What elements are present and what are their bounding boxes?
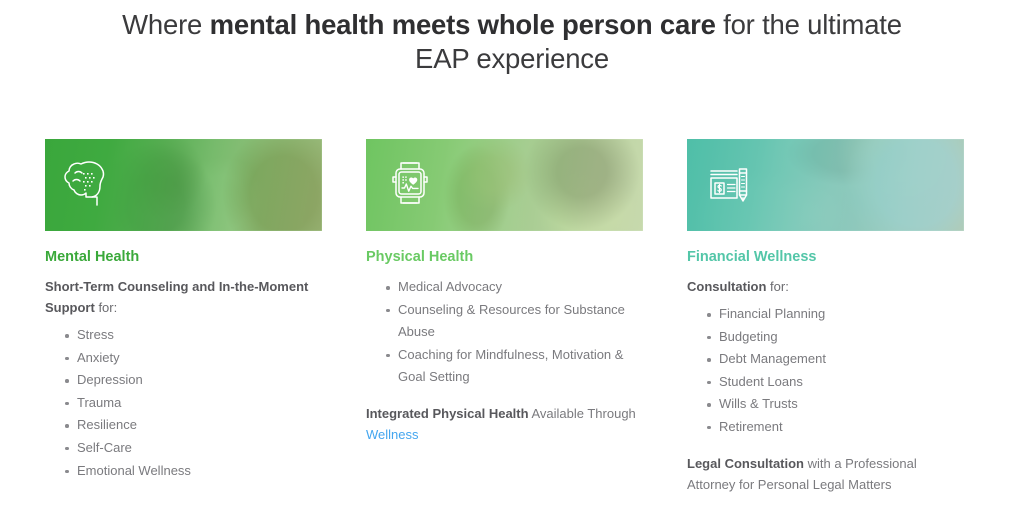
list-item: Debt Management (707, 348, 964, 371)
card-lead-bold: Short-Term Counseling and In-the-Moment … (45, 279, 308, 315)
list-item: Self-Care (65, 437, 322, 460)
page-title-bold: mental health meets whole person care (210, 9, 716, 40)
list-item: Trauma (65, 392, 322, 415)
card-lead-bold: Consultation (687, 279, 766, 294)
cheque-pen-icon (701, 153, 761, 213)
card-bullets-mental-health: Stress Anxiety Depression Trauma Resilie… (45, 324, 322, 482)
list-item: Stress (65, 324, 322, 347)
list-item: Resilience (65, 414, 322, 437)
card-bullets-financial-wellness: Financial Planning Budgeting Debt Manage… (687, 303, 964, 439)
card-banner-financial-wellness (687, 139, 964, 231)
head-brain-icon (59, 153, 119, 213)
card-mental-health: Mental Health Short-Term Counseling and … (45, 139, 322, 496)
page-root: Where mental health meets whole person c… (0, 0, 1024, 517)
list-item: Budgeting (707, 326, 964, 349)
card-title-financial-wellness: Financial Wellness (687, 247, 964, 267)
list-item: Medical Advocacy (386, 276, 643, 299)
list-item: Retirement (707, 416, 964, 439)
card-note-bold: Integrated Physical Health (366, 406, 529, 421)
page-title-part1: Where (122, 9, 209, 40)
card-lead-mental-health: Short-Term Counseling and In-the-Moment … (45, 276, 322, 318)
card-title-physical-health: Physical Health (366, 247, 643, 267)
card-bullets-physical-health: Medical Advocacy Counseling & Resources … (366, 276, 643, 389)
list-item: Depression (65, 369, 322, 392)
list-item: Emotional Wellness (65, 460, 322, 483)
page-title: Where mental health meets whole person c… (112, 8, 912, 76)
smartwatch-heart-icon (380, 153, 440, 213)
list-item: Financial Planning (707, 303, 964, 326)
cards-row: Mental Health Short-Term Counseling and … (45, 139, 965, 496)
list-item: Counseling & Resources for Substance Abu… (386, 299, 643, 344)
card-lead-rest: for: (766, 279, 788, 294)
list-item: Student Loans (707, 371, 964, 394)
card-lead-financial-wellness: Consultation for: (687, 276, 964, 297)
card-note-financial-wellness: Legal Consultation with a Professional A… (687, 453, 964, 496)
card-banner-mental-health (45, 139, 322, 231)
card-note-physical-health: Integrated Physical Health Available Thr… (366, 403, 643, 446)
card-banner-physical-health (366, 139, 643, 231)
card-lead-rest: for: (95, 300, 117, 315)
list-item: Anxiety (65, 347, 322, 370)
card-physical-health: Physical Health Medical Advocacy Counsel… (366, 139, 643, 496)
list-item: Wills & Trusts (707, 393, 964, 416)
card-financial-wellness: Financial Wellness Consultation for: Fin… (687, 139, 964, 496)
list-item: Coaching for Mindfulness, Motivation & G… (386, 344, 643, 389)
wellness-link[interactable]: Wellness (366, 427, 419, 442)
card-note-bold: Legal Consultation (687, 456, 804, 471)
card-note-rest: Available Through (529, 406, 636, 421)
card-title-mental-health: Mental Health (45, 247, 322, 267)
